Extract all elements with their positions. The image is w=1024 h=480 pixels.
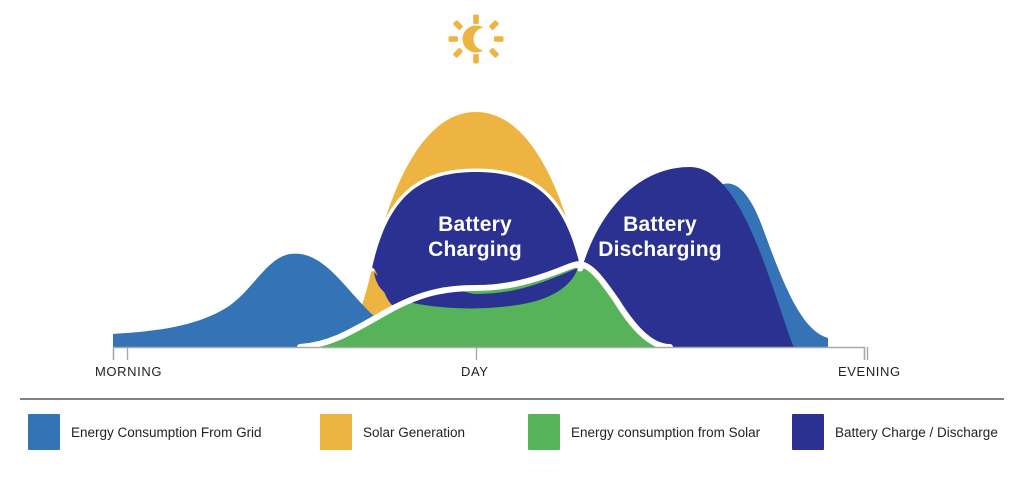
battery-charging-label: Battery Charging [385,212,565,262]
battery-charging-line-2: Charging [385,237,565,262]
axis-tick-day: DAY [461,364,489,379]
legend-item-solar-generation[interactable]: Solar Generation [320,414,465,450]
legend-item-energy-consumption-from-solar[interactable]: Energy consumption from Solar [528,414,760,450]
axis-tick-morning: MORNING [95,364,162,379]
legend-swatch-grid [28,414,60,450]
battery-discharging-line-1: Battery [565,212,755,237]
legend-label-battery: Battery Charge / Discharge [835,425,998,440]
legend-item-battery-charge-discharge[interactable]: Battery Charge / Discharge [792,414,998,450]
legend-label-solar: Solar Generation [363,425,465,440]
legend-item-energy-consumption-from-grid[interactable]: Energy Consumption From Grid [28,414,262,450]
chart-legend: Energy Consumption From Grid Solar Gener… [20,414,1010,454]
legend-label-grid: Energy Consumption From Grid [71,425,262,440]
legend-swatch-solar-consumption [528,414,560,450]
battery-charging-line-1: Battery [385,212,565,237]
legend-label-solar-consumption: Energy consumption from Solar [571,425,760,440]
energy-flow-infographic: Battery Charging Battery Discharging MOR… [0,0,1024,480]
axis-line-group [113,347,868,360]
legend-divider [20,398,1004,400]
battery-discharging-line-2: Discharging [565,237,755,262]
legend-swatch-battery [792,414,824,450]
battery-discharging-label: Battery Discharging [565,212,755,262]
legend-swatch-solar [320,414,352,450]
sun-moon-icon [440,8,512,70]
axis-tick-evening: EVENING [838,364,901,379]
